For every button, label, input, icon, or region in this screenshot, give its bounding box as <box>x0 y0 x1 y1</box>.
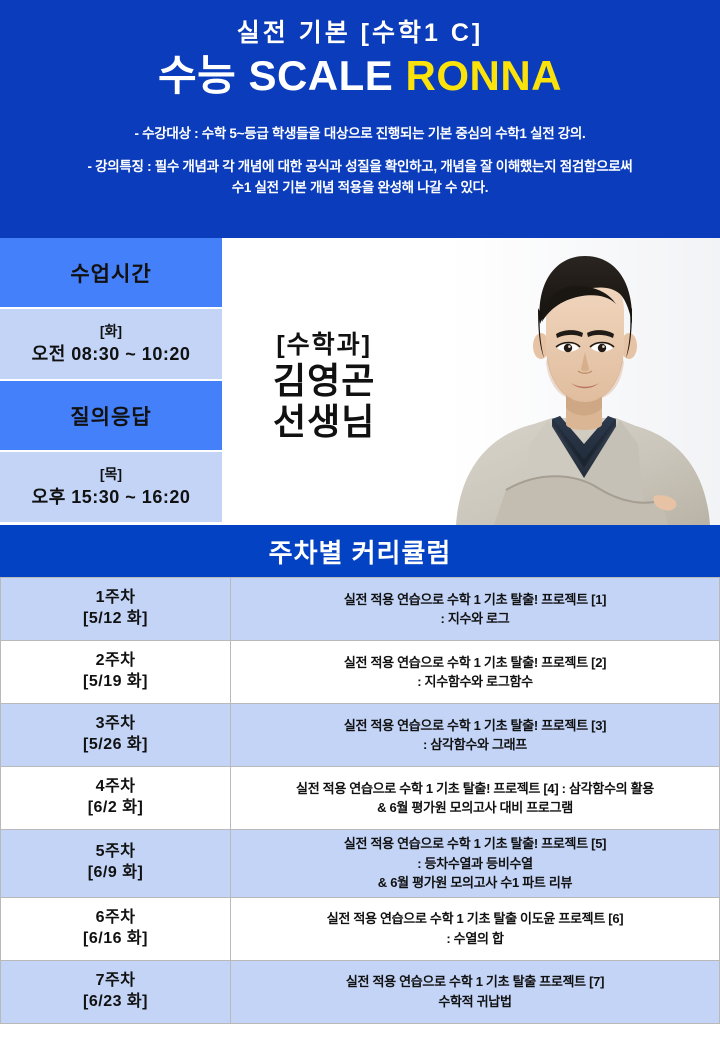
title-yellow-segment: RONNA <box>405 52 562 99</box>
curriculum-week-cell: 4주차 [6/2 화] <box>1 767 231 830</box>
hero-bullet-features-line1: - 강의특징 : 필수 개념과 각 개념에 대한 공식과 성질을 확인하고, 개… <box>14 157 706 178</box>
schedule-class-time-cell: [화] 오전 08:30 ~ 10:20 <box>0 309 222 381</box>
curriculum-header: 주차별 커리큘럼 <box>0 525 720 577</box>
topic-line-2: & 6월 평가원 모의고사 대비 프로그램 <box>237 798 713 818</box>
topic-line-1: 실전 적용 연습으로 수학 1 기초 탈출! 프로젝트 [5] <box>237 834 713 854</box>
curriculum-week-cell: 5주차 [6/9 화] <box>1 830 231 898</box>
topic-line-1: 실전 적용 연습으로 수학 1 기초 탈출 프로젝트 [7] <box>237 972 713 992</box>
table-row: 7주차 [6/23 화] 실전 적용 연습으로 수학 1 기초 탈출 프로젝트 … <box>1 960 720 1023</box>
info-band: 수업시간 [화] 오전 08:30 ~ 10:20 질의응답 [목] 오후 15… <box>0 238 720 525</box>
table-row: 2주차 [5/19 화] 실전 적용 연습으로 수학 1 기초 탈출! 프로젝트… <box>1 641 720 704</box>
table-row: 6주차 [6/16 화] 실전 적용 연습으로 수학 1 기초 탈출 이도윤 프… <box>1 897 720 960</box>
hero-bullet-target: - 수강대상 : 수학 5~등급 학생들을 대상으로 진행되는 기본 중심의 수… <box>14 124 706 145</box>
curriculum-topic-cell: 실전 적용 연습으로 수학 1 기초 탈출 프로젝트 [7] 수학적 귀납법 <box>231 960 720 1023</box>
hero-bullet-features: - 강의특징 : 필수 개념과 각 개념에 대한 공식과 성질을 확인하고, 개… <box>14 157 706 199</box>
teacher-honorific: 선생님 <box>273 402 375 442</box>
topic-line-2: : 삼각함수와 그래프 <box>237 735 713 755</box>
schedule-qna-value: 오후 15:30 ~ 16:20 <box>32 484 191 510</box>
curriculum-topic-cell: 실전 적용 연습으로 수학 1 기초 탈출 이도윤 프로젝트 [6] : 수열의… <box>231 897 720 960</box>
topic-line-3: & 6월 평가원 모의고사 수1 파트 리뷰 <box>237 873 713 893</box>
hero-bullet-target-line1: - 수강대상 : 수학 5~등급 학생들을 대상으로 진행되는 기본 중심의 수… <box>14 124 706 145</box>
week-date: [5/26 화] <box>7 735 224 756</box>
topic-line-2: : 지수함수와 로그함수 <box>237 672 713 692</box>
curriculum-week-cell: 1주차 [5/12 화] <box>1 578 231 641</box>
week-label: 7주차 <box>7 971 224 992</box>
teacher-panel: [수학과] 김영곤 선생님 <box>225 238 720 525</box>
teacher-department: [수학과] <box>273 330 375 361</box>
week-date: [6/23 화] <box>7 992 224 1013</box>
table-row: 3주차 [5/26 화] 실전 적용 연습으로 수학 1 기초 탈출! 프로젝트… <box>1 704 720 767</box>
page-title: 수능 SCALE RONNA <box>0 54 720 98</box>
table-row: 4주차 [6/2 화] 실전 적용 연습으로 수학 1 기초 탈출! 프로젝트 … <box>1 767 720 830</box>
schedule-class-time-value: 오전 08:30 ~ 10:20 <box>32 341 191 367</box>
week-label: 4주차 <box>7 777 224 798</box>
topic-line-1: 실전 적용 연습으로 수학 1 기초 탈출 이도윤 프로젝트 [6] <box>237 909 713 929</box>
hero-bullet-features-line2: 수1 실전 기본 개념 적용을 완성해 나갈 수 있다. <box>14 178 706 199</box>
week-date: [6/2 화] <box>7 798 224 819</box>
week-label: 2주차 <box>7 651 224 672</box>
teacher-portrait-photo <box>448 238 720 525</box>
curriculum-week-cell: 2주차 [5/19 화] <box>1 641 231 704</box>
teacher-name: 김영곤 <box>273 361 375 401</box>
topic-line-2: : 수열의 합 <box>237 929 713 949</box>
week-date: [6/9 화] <box>7 863 224 884</box>
topic-line-1: 실전 적용 연습으로 수학 1 기초 탈출! 프로젝트 [1] <box>237 590 713 610</box>
title-white-segment: 수능 SCALE <box>158 52 405 99</box>
week-label: 6주차 <box>7 908 224 929</box>
topic-line-2: : 지수와 로그 <box>237 609 713 629</box>
hero-subtitle: 실전 기본 [수학1 C] <box>0 18 720 48</box>
schedule-qna-header: 질의응답 <box>0 381 222 452</box>
schedule-class-time-day: [화] <box>100 321 122 341</box>
curriculum-topic-cell: 실전 적용 연습으로 수학 1 기초 탈출! 프로젝트 [2] : 지수함수와 … <box>231 641 720 704</box>
schedule-qna-day: [목] <box>100 464 122 484</box>
curriculum-topic-cell: 실전 적용 연습으로 수학 1 기초 탈출! 프로젝트 [4] : 삼각함수의 … <box>231 767 720 830</box>
topic-line-1: 실전 적용 연습으로 수학 1 기초 탈출! 프로젝트 [4] : 삼각함수의 … <box>237 779 713 799</box>
week-label: 3주차 <box>7 714 224 735</box>
week-label: 5주차 <box>7 842 224 863</box>
topic-line-1: 실전 적용 연습으로 수학 1 기초 탈출! 프로젝트 [2] <box>237 653 713 673</box>
topic-line-1: 실전 적용 연습으로 수학 1 기초 탈출! 프로젝트 [3] <box>237 716 713 736</box>
table-row: 1주차 [5/12 화] 실전 적용 연습으로 수학 1 기초 탈출! 프로젝트… <box>1 578 720 641</box>
schedule-class-time-header: 수업시간 <box>0 238 222 309</box>
curriculum-week-cell: 3주차 [5/26 화] <box>1 704 231 767</box>
week-date: [5/19 화] <box>7 672 224 693</box>
curriculum-topic-cell: 실전 적용 연습으로 수학 1 기초 탈출! 프로젝트 [3] : 삼각함수와 … <box>231 704 720 767</box>
curriculum-topic-cell: 실전 적용 연습으로 수학 1 기초 탈출! 프로젝트 [1] : 지수와 로그 <box>231 578 720 641</box>
schedule-panel: 수업시간 [화] 오전 08:30 ~ 10:20 질의응답 [목] 오후 15… <box>0 238 225 525</box>
topic-line-2: : 등차수열과 등비수열 <box>237 854 713 874</box>
table-row: 5주차 [6/9 화] 실전 적용 연습으로 수학 1 기초 탈출! 프로젝트 … <box>1 830 720 898</box>
schedule-qna-cell: [목] 오후 15:30 ~ 16:20 <box>0 452 222 524</box>
hero-bullet-list: - 수강대상 : 수학 5~등급 학생들을 대상으로 진행되는 기본 중심의 수… <box>0 124 720 199</box>
week-date: [6/16 화] <box>7 929 224 950</box>
course-poster: 실전 기본 [수학1 C] 수능 SCALE RONNA - 수강대상 : 수학… <box>0 0 720 1040</box>
teacher-name-block: [수학과] 김영곤 선생님 <box>273 330 375 442</box>
curriculum-topic-cell: 실전 적용 연습으로 수학 1 기초 탈출! 프로젝트 [5] : 등차수열과 … <box>231 830 720 898</box>
curriculum-table: 1주차 [5/12 화] 실전 적용 연습으로 수학 1 기초 탈출! 프로젝트… <box>0 577 720 1024</box>
topic-line-2: 수학적 귀납법 <box>237 992 713 1012</box>
week-date: [5/12 화] <box>7 609 224 630</box>
hero-header: 실전 기본 [수학1 C] 수능 SCALE RONNA - 수강대상 : 수학… <box>0 0 720 238</box>
curriculum-week-cell: 6주차 [6/16 화] <box>1 897 231 960</box>
week-label: 1주차 <box>7 588 224 609</box>
curriculum-week-cell: 7주차 [6/23 화] <box>1 960 231 1023</box>
